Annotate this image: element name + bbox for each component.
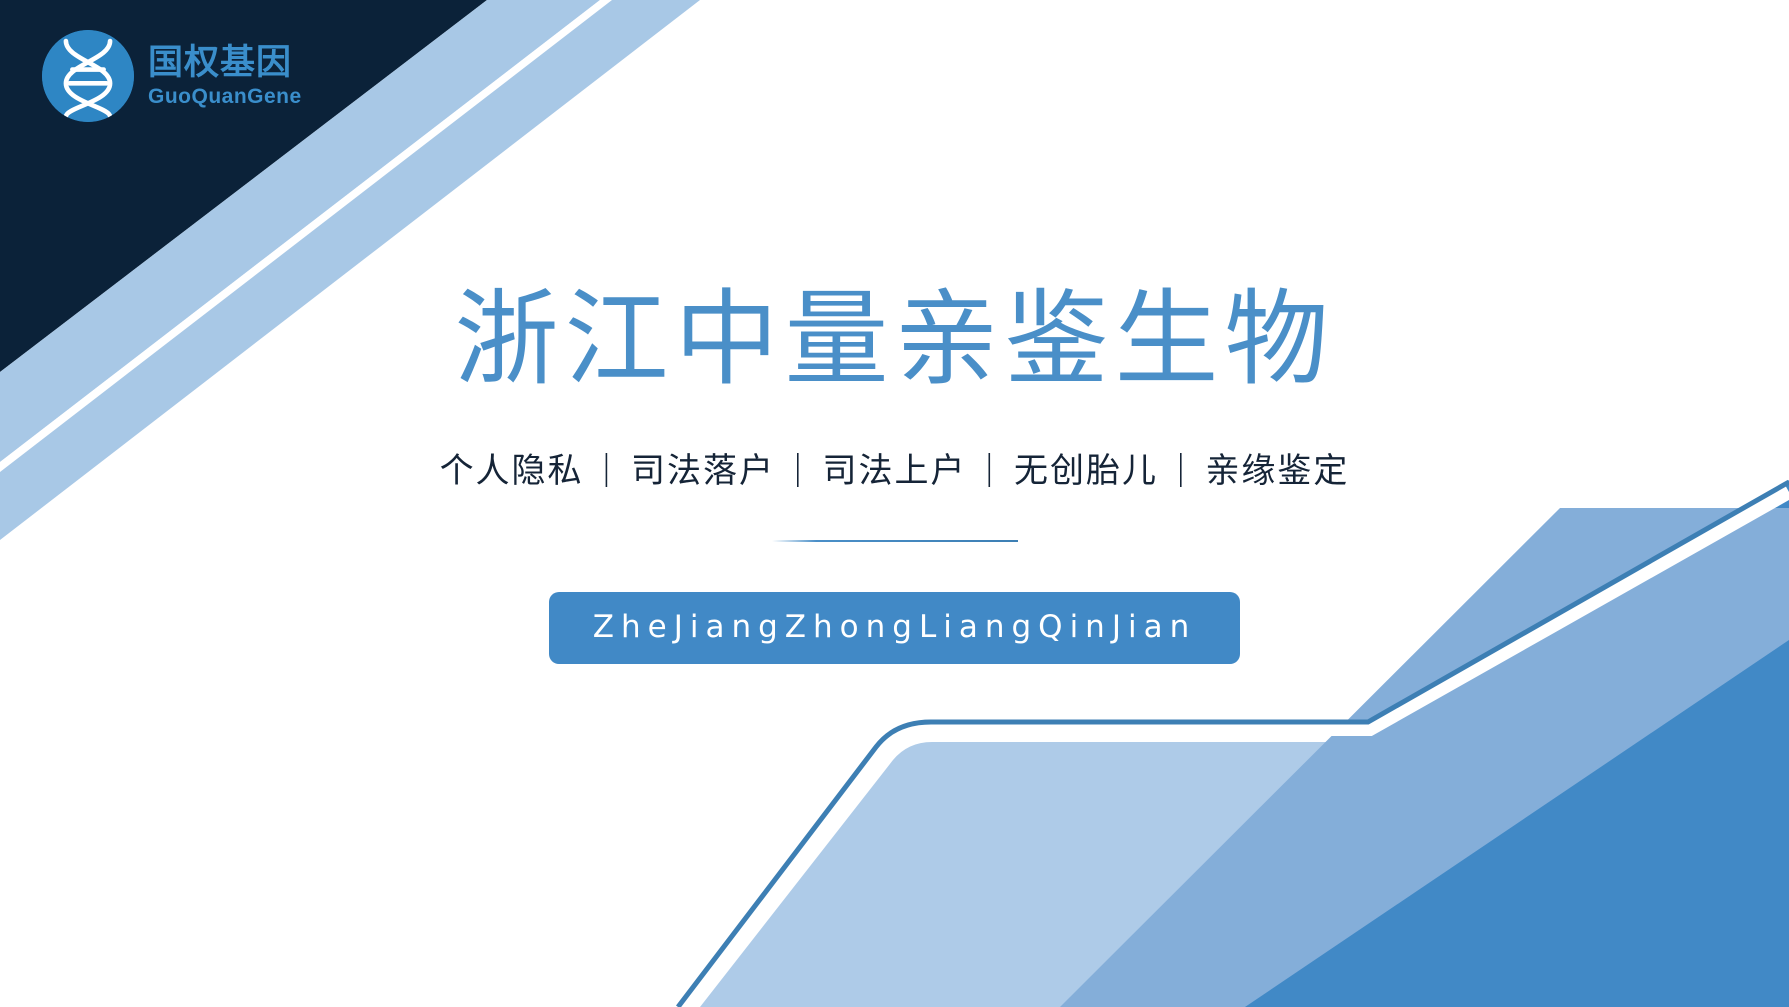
brand-name-cn: 国权基因 — [148, 45, 302, 80]
decorative-divider — [772, 540, 1018, 542]
tagline-separator-1: | — [792, 448, 805, 488]
dna-helix-icon — [42, 30, 134, 122]
tagline-item-4: 亲缘鉴定 — [1205, 443, 1349, 492]
pinyin-badge[interactable]: ZheJiangZhongLiangQinJian — [549, 592, 1240, 664]
tagline-separator-3: | — [1175, 448, 1188, 488]
brand-wordmark: 国权基因 GuoQuanGene — [148, 45, 302, 107]
tagline-item-1: 司法落户 — [631, 443, 775, 492]
tagline-item-2: 司法上户 — [823, 443, 967, 492]
tagline-item-0: 个人隐私 — [440, 443, 584, 492]
tagline-separator-2: | — [984, 448, 997, 488]
brand-logo-lockup[interactable]: 国权基因 GuoQuanGene — [42, 30, 302, 122]
hero-content: 浙江中量亲鉴生物 个人隐私 | 司法落户 | 司法上户 | 无创胎儿 | 亲缘鉴… — [0, 0, 1789, 1007]
service-tagline: 个人隐私 | 司法落户 | 司法上户 | 无创胎儿 | 亲缘鉴定 — [440, 443, 1350, 492]
tagline-separator-0: | — [601, 448, 614, 488]
page-title: 浙江中量亲鉴生物 — [454, 283, 1334, 395]
brand-name-en: GuoQuanGene — [148, 86, 302, 107]
poster-canvas: 国权基因 GuoQuanGene 浙江中量亲鉴生物 个人隐私 | 司法落户 | … — [0, 0, 1789, 1007]
tagline-item-3: 无创胎儿 — [1014, 443, 1158, 492]
